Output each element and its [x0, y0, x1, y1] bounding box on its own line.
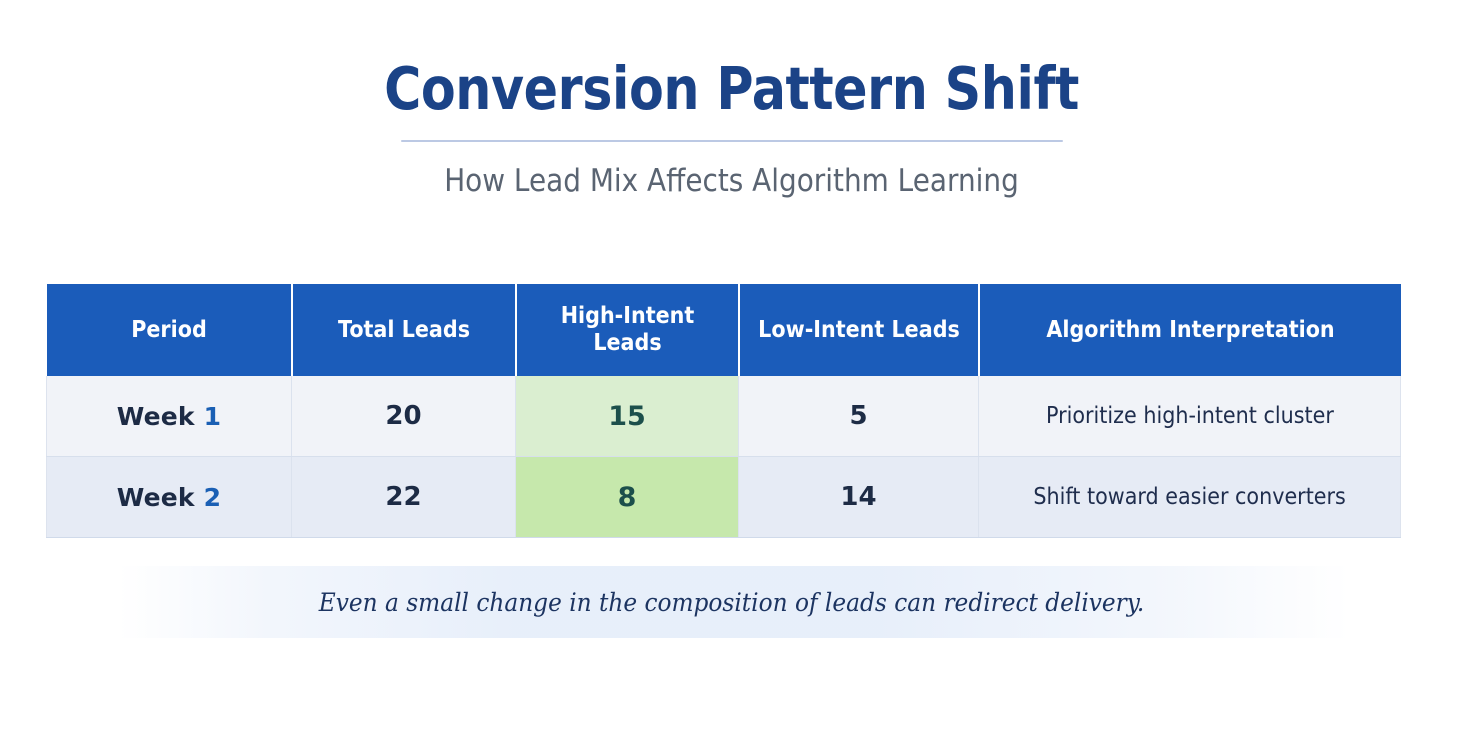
high-intent-value: 15	[608, 401, 646, 432]
leads-table-container: Period Total Leads High-Intent Leads Low…	[46, 284, 1400, 538]
high-intent-value: 8	[618, 482, 637, 513]
total-leads-value: 20	[385, 401, 421, 431]
cell-total-leads: 20	[292, 376, 516, 457]
column-header-algorithm-interpretation-label: Algorithm Interpretation	[1001, 317, 1380, 344]
low-intent-value: 14	[840, 482, 876, 512]
cell-algorithm-interpretation: Prioritize high-intent cluster	[979, 376, 1401, 457]
period-label: Week 2	[117, 483, 222, 512]
period-label: Week 1	[117, 402, 222, 431]
header: Conversion Pattern Shift How Lead Mix Af…	[0, 0, 1463, 200]
table-header: Period Total Leads High-Intent Leads Low…	[47, 284, 1401, 376]
period-number: 1	[204, 402, 222, 431]
table-row: Week 1 20 15 5 Prioritize high-intent cl…	[47, 376, 1401, 457]
column-header-period[interactable]: Period	[47, 284, 292, 376]
period-word: Week	[117, 402, 195, 431]
column-header-algorithm-interpretation[interactable]: Algorithm Interpretation	[979, 284, 1401, 376]
interpretation-text: Shift toward easier converters	[1033, 484, 1345, 510]
column-header-high-intent-leads-label: High-Intent Leads	[528, 303, 727, 356]
table-row: Week 2 22 8 14 Shift toward easier conve…	[47, 457, 1401, 538]
table-body: Week 1 20 15 5 Prioritize high-intent cl…	[47, 376, 1401, 538]
column-header-period-label: Period	[59, 317, 279, 344]
interpretation-text: Prioritize high-intent cluster	[1046, 403, 1334, 429]
cell-algorithm-interpretation: Shift toward easier converters	[979, 457, 1401, 538]
cell-total-leads: 22	[292, 457, 516, 538]
period-word: Week	[117, 483, 195, 512]
cell-low-intent-leads: 14	[739, 457, 979, 538]
cell-period: Week 1	[47, 376, 292, 457]
infographic-page: Conversion Pattern Shift How Lead Mix Af…	[0, 0, 1463, 729]
page-subtitle: How Lead Mix Affects Algorithm Learning	[73, 142, 1390, 200]
column-header-total-leads[interactable]: Total Leads	[292, 284, 516, 376]
column-header-low-intent-leads-label: Low-Intent Leads	[751, 317, 965, 344]
column-header-low-intent-leads[interactable]: Low-Intent Leads	[739, 284, 979, 376]
cell-low-intent-leads: 5	[739, 376, 979, 457]
footer-caption: Even a small change in the composition o…	[51, 568, 1412, 638]
cell-high-intent-leads: 15	[516, 376, 739, 457]
leads-table: Period Total Leads High-Intent Leads Low…	[46, 284, 1401, 538]
period-number: 2	[204, 483, 222, 512]
table-header-row: Period Total Leads High-Intent Leads Low…	[47, 284, 1401, 376]
column-header-high-intent-leads[interactable]: High-Intent Leads	[516, 284, 739, 376]
page-title: Conversion Pattern Shift	[102, 0, 1360, 122]
cell-period: Week 2	[47, 457, 292, 538]
low-intent-value: 5	[849, 401, 867, 431]
total-leads-value: 22	[385, 482, 421, 512]
column-header-total-leads-label: Total Leads	[304, 317, 504, 344]
cell-high-intent-leads: 8	[516, 457, 739, 538]
